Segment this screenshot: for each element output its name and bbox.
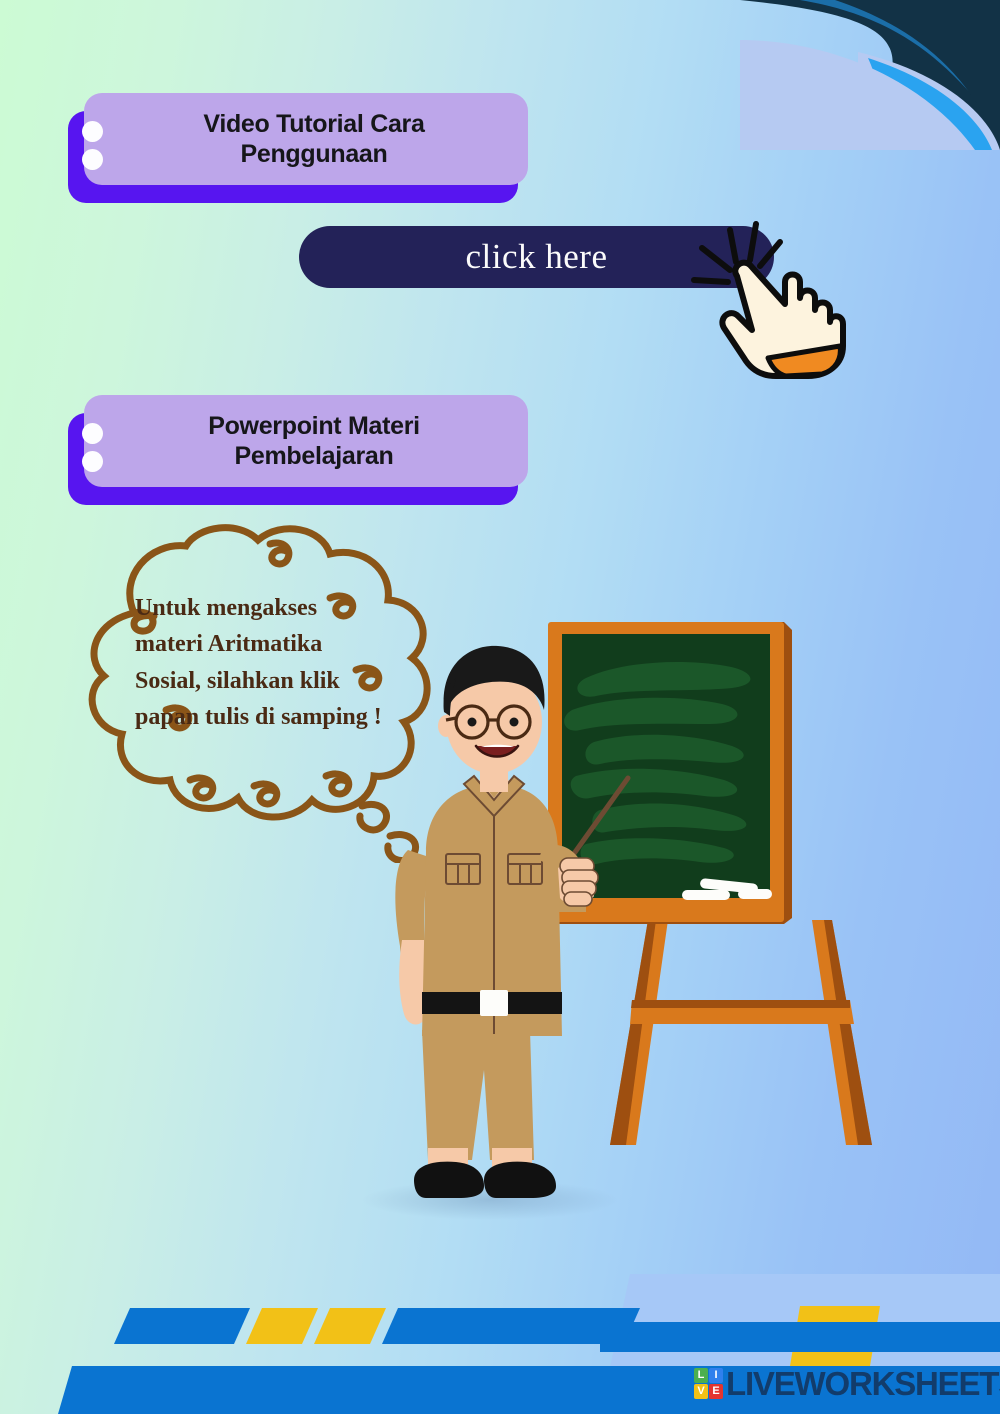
logo-wordmark: LIVEWORKSHEETS bbox=[726, 1367, 1000, 1400]
decorative-corner-top-right bbox=[740, 0, 1000, 150]
click-here-label: click here bbox=[466, 237, 608, 277]
bullet-dot-icon bbox=[82, 121, 103, 142]
thought-bubble-text: Untuk mengakses materi Aritmatika Sosial… bbox=[135, 590, 390, 736]
bullet-dot-icon bbox=[82, 451, 103, 472]
sidebar-item-powerpoint-materi[interactable]: Powerpoint Materi Pembelajaran bbox=[68, 395, 528, 505]
logo-tile-v: V bbox=[694, 1384, 708, 1399]
easel-legs bbox=[610, 920, 872, 1145]
bullet-dot-icon bbox=[82, 423, 103, 444]
logo-tiles-icon: L I V E bbox=[694, 1368, 723, 1399]
worksheet-page: Video Tutorial Cara Penggunaan click her… bbox=[0, 0, 1000, 1414]
logo-tile-i: I bbox=[709, 1368, 723, 1383]
logo-tile-l: L bbox=[694, 1368, 708, 1383]
card-front-panel[interactable]: Video Tutorial Cara Penggunaan bbox=[84, 93, 528, 185]
card-label: Powerpoint Materi Pembelajaran bbox=[84, 411, 528, 472]
sidebar-item-video-tutorial[interactable]: Video Tutorial Cara Penggunaan bbox=[68, 93, 528, 203]
classroom-illustration bbox=[380, 600, 980, 1240]
liveworksheets-logo: L I V E LIVEWORKSHEETS bbox=[694, 1360, 1000, 1406]
pointing-hand-icon bbox=[690, 218, 865, 378]
logo-tile-e: E bbox=[709, 1384, 723, 1399]
card-label: Video Tutorial Cara Penggunaan bbox=[84, 109, 528, 170]
bullet-dot-icon bbox=[82, 149, 103, 170]
card-front-panel[interactable]: Powerpoint Materi Pembelajaran bbox=[84, 395, 528, 487]
